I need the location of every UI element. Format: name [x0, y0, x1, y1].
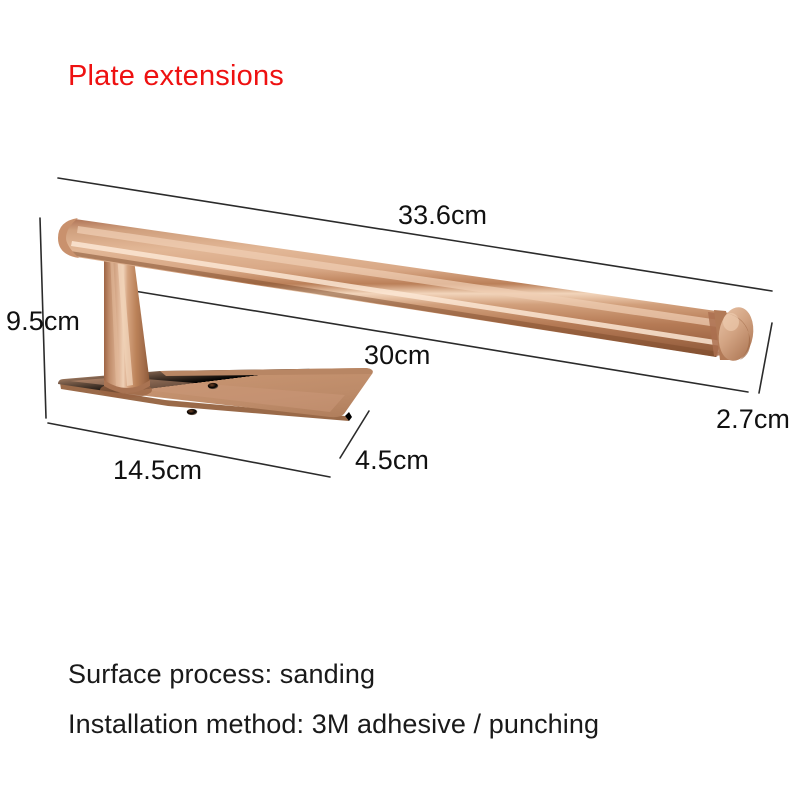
spec-surface-process: Surface process: sanding	[68, 659, 375, 690]
dimension-label-cap-diameter: 2.7cm	[716, 404, 790, 435]
product-diagram-canvas: Plate extensions 33.6cm 30cm 9.5cm 14.5c…	[0, 0, 800, 800]
dimension-label-overall-length: 33.6cm	[398, 200, 487, 231]
rod-end-cap	[714, 305, 757, 364]
vertical-post	[100, 252, 152, 398]
horizontal-rod-specular	[71, 241, 722, 346]
dimension-label-plate-width: 4.5cm	[355, 445, 429, 476]
screw-hole	[208, 383, 218, 389]
dimension-label-plate-length: 14.5cm	[113, 455, 202, 486]
dimension-label-height: 9.5cm	[6, 306, 80, 337]
horizontal-rod	[58, 218, 730, 357]
dimension-line-cap-diameter	[759, 323, 772, 393]
rod-end-cap-highlight	[723, 313, 739, 331]
horizontal-rod-highlight	[77, 226, 726, 328]
dimension-label-rod-length: 30cm	[364, 340, 430, 371]
screw-hole	[187, 409, 197, 415]
spec-installation-method: Installation method: 3M adhesive / punch…	[68, 709, 599, 740]
page-title: Plate extensions	[68, 60, 284, 93]
